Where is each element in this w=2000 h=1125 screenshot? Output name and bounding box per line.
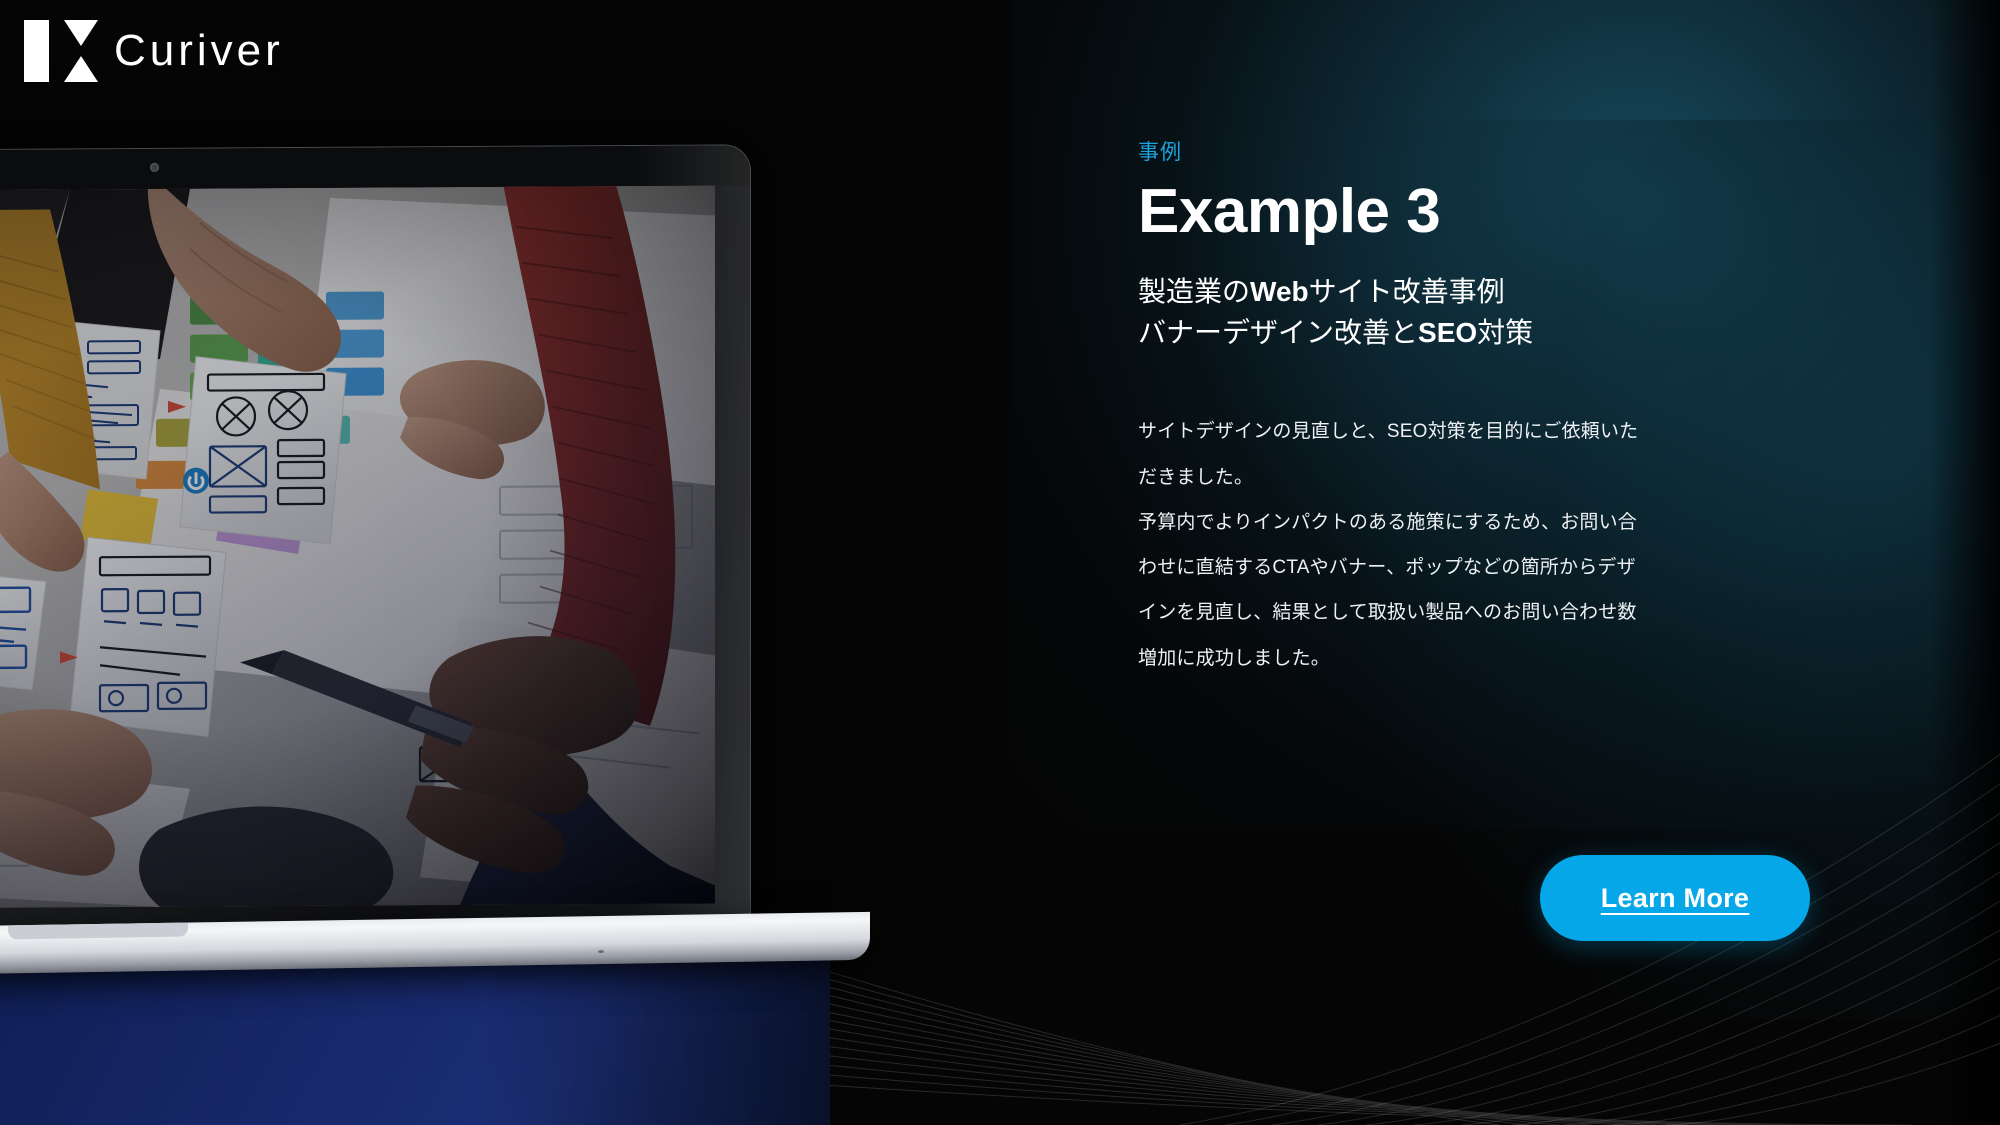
body-line: インを見直し、結果として取扱い製品へのお問い合わせ数	[1138, 590, 1758, 635]
hero-body-copy: サイトデザインの見直しと、SEO対策を目的にご依頼いた だきました。 予算内でよ…	[1138, 409, 1758, 680]
curiver-logo-mark-icon	[24, 20, 98, 82]
laptop-mockup	[0, 148, 890, 948]
brand-name: Curiver	[114, 29, 284, 73]
page-title: Example 3	[1138, 179, 1798, 244]
subheading-line-1: 製造業のWebサイト改善事例	[1138, 272, 1798, 313]
laptop-screen	[0, 185, 715, 908]
learn-more-button[interactable]: Learn More	[1540, 855, 1810, 941]
hero-section: Curiver	[0, 0, 2000, 1125]
body-line: 予算内でよりインパクトのある施策にするため、お問い合	[1138, 500, 1758, 545]
subheading-line-2-text-a: バナーデザイン改善と	[1138, 317, 1418, 348]
subheading-line-1-emphasis: Web	[1250, 276, 1309, 307]
cta-container: Learn More	[1540, 855, 1810, 941]
brand-logo[interactable]: Curiver	[24, 20, 284, 82]
laptop-base-notch	[8, 923, 188, 940]
laptop-camera-icon	[150, 163, 159, 172]
body-line: わせに直結するCTAやバナー、ポップなどの箇所からデザ	[1138, 545, 1758, 590]
hero-content: 事例 Example 3 製造業のWebサイト改善事例 バナーデザイン改善とSE…	[1138, 140, 1798, 681]
body-line: だきました。	[1138, 455, 1758, 500]
subheading-line-2-text-b: 対策	[1477, 317, 1533, 348]
eyebrow-label: 事例	[1138, 140, 1798, 165]
screen-photo	[0, 185, 715, 908]
body-line: 増加に成功しました。	[1138, 636, 1758, 681]
subheading-line-2: バナーデザイン改善とSEO対策	[1138, 313, 1798, 354]
body-line: サイトデザインの見直しと、SEO対策を目的にご依頼いた	[1138, 409, 1758, 454]
subheading-line-2-emphasis: SEO	[1418, 317, 1477, 348]
learn-more-button-label: Learn More	[1601, 883, 1750, 914]
background-edge-vignette	[1930, 0, 2000, 1125]
subheading-line-1-text-b: サイト改善事例	[1309, 276, 1505, 307]
laptop-lid	[0, 145, 750, 940]
subheading-line-1-text-a: 製造業の	[1138, 276, 1250, 307]
hero-subheading: 製造業のWebサイト改善事例 バナーデザイン改善とSEO対策	[1138, 272, 1798, 353]
laptop-base-foot	[598, 950, 604, 953]
